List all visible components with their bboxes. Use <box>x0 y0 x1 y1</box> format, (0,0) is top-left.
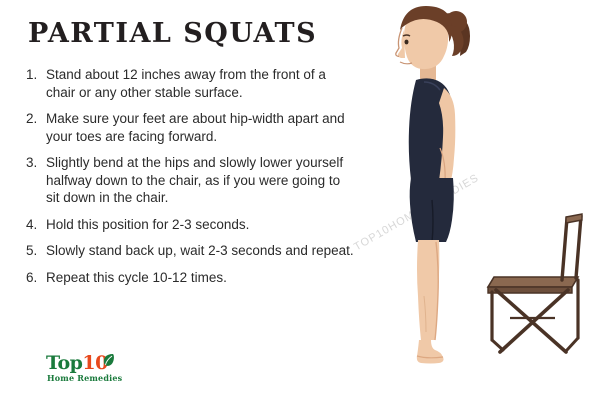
step-number: 1. <box>26 66 46 84</box>
woman-figure <box>396 6 470 364</box>
step-text: Slightly bend at the hips and slowly low… <box>46 154 356 207</box>
logo-top-text: Top10 <box>46 352 108 374</box>
step-number: 3. <box>26 154 46 172</box>
steps-list: 1. Stand about 12 inches away from the f… <box>26 66 356 295</box>
list-item: 5. Slowly stand back up, wait 2-3 second… <box>26 242 356 260</box>
step-text: Repeat this cycle 10-12 times. <box>46 269 227 287</box>
step-text: Stand about 12 inches away from the fron… <box>46 66 356 101</box>
list-item: 2. Make sure your feet are about hip-wid… <box>26 110 356 145</box>
step-number: 6. <box>26 269 46 287</box>
list-item: 6. Repeat this cycle 10-12 times. <box>26 269 356 287</box>
page-title: PARTIAL SQUATS <box>28 18 317 49</box>
list-item: 3. Slightly bend at the hips and slowly … <box>26 154 356 207</box>
brand-logo[interactable]: Top10 Home Remedies <box>46 352 158 386</box>
step-text: Hold this position for 2-3 seconds. <box>46 216 249 234</box>
step-number: 2. <box>26 110 46 128</box>
illustration-woman-standing <box>340 0 600 400</box>
step-text: Slowly stand back up, wait 2-3 seconds a… <box>46 242 354 260</box>
logo-word-top: Top <box>46 352 82 374</box>
folding-chair-icon <box>488 214 582 352</box>
list-item: 4. Hold this position for 2-3 seconds. <box>26 216 356 234</box>
step-number: 5. <box>26 242 46 260</box>
step-text: Make sure your feet are about hip-width … <box>46 110 356 145</box>
list-item: 1. Stand about 12 inches away from the f… <box>26 66 356 101</box>
exercise-infographic: PARTIAL SQUATS 1. Stand about 12 inches … <box>0 0 600 400</box>
step-number: 4. <box>26 216 46 234</box>
logo-subtitle: Home Remedies <box>47 373 122 383</box>
leaf-icon <box>102 353 115 368</box>
